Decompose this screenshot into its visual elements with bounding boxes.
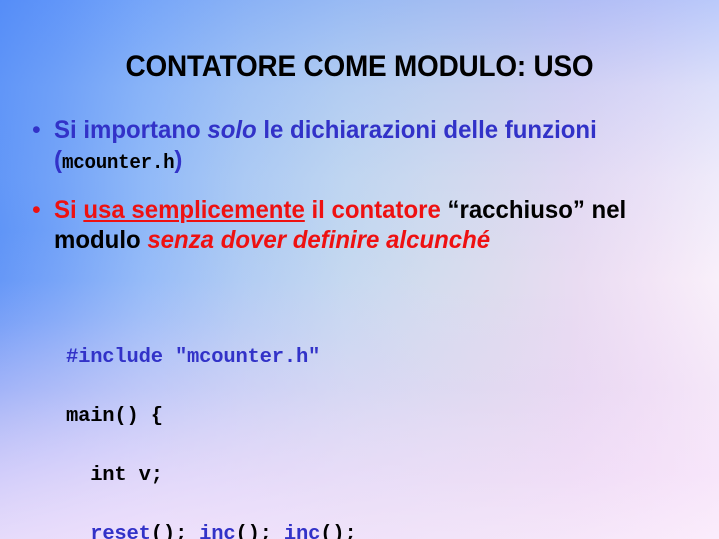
code-line: reset(); inc(); inc(); bbox=[66, 520, 357, 539]
code-token: reset bbox=[90, 523, 151, 539]
bullet-marker-icon: • bbox=[32, 115, 54, 145]
slide-canvas: CONTATORE COME MODULO: USO • Si importan… bbox=[0, 0, 719, 539]
bullet-2-seg-underlined: usa semplicemente bbox=[83, 196, 304, 224]
bullet-marker-icon: • bbox=[32, 195, 54, 225]
bullet-1-seg-3: le dichiarazioni delle funzioni bbox=[257, 116, 597, 144]
bullet-item-2: • Si usa semplicemente il contatore “rac… bbox=[32, 195, 692, 255]
bullet-1-seg-1: Si importano bbox=[54, 116, 207, 144]
bullet-1-seg-solo: solo bbox=[207, 116, 256, 144]
code-token: (); bbox=[235, 523, 283, 539]
code-token: main() { bbox=[66, 405, 163, 428]
bullet-2-seg-1: Si bbox=[54, 196, 83, 224]
code-token: int v; bbox=[66, 464, 163, 487]
bullet-1-text: Si importano solo le dichiarazioni delle… bbox=[54, 115, 666, 179]
bullet-1-header-filename: mcounter.h bbox=[62, 152, 174, 175]
code-token: (); bbox=[151, 523, 199, 539]
code-token: (); bbox=[320, 523, 356, 539]
code-sample-block: #include "mcounter.h" main() { int v; re… bbox=[66, 313, 357, 539]
slide-title: CONTATORE COME MODULO: USO bbox=[25, 50, 694, 84]
bullet-item-1: • Si importano solo le dichiarazioni del… bbox=[32, 115, 692, 179]
bullet-2-seg-emphasis: senza dover definire alcunché bbox=[147, 226, 490, 254]
code-token: inc bbox=[284, 523, 320, 539]
bullet-1-paren-close: ) bbox=[174, 146, 182, 174]
code-line: #include "mcounter.h" bbox=[66, 343, 357, 373]
code-token: #include bbox=[66, 346, 163, 369]
code-token: "mcounter.h" bbox=[175, 346, 320, 369]
bullet-2-text: Si usa semplicemente il contatore “racch… bbox=[54, 195, 666, 255]
slide-content: CONTATORE COME MODULO: USO • Si importan… bbox=[0, 0, 719, 539]
code-token bbox=[163, 346, 175, 369]
code-line: main() { bbox=[66, 402, 357, 432]
code-line: int v; bbox=[66, 461, 357, 491]
code-token: inc bbox=[199, 523, 235, 539]
bullet-2-seg-3: il contatore bbox=[305, 196, 448, 224]
code-token bbox=[66, 523, 90, 539]
